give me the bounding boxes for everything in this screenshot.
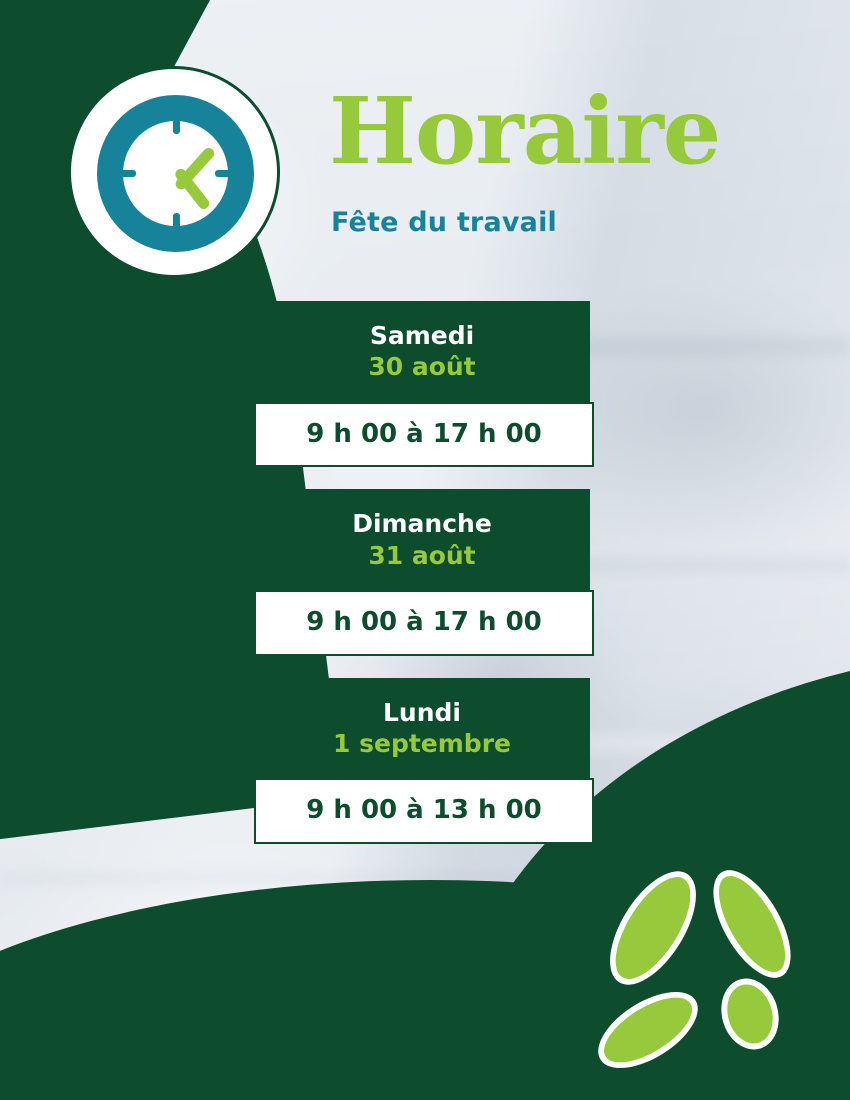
schedule-day-label: Samedi — [254, 320, 590, 351]
clock-tick-6 — [173, 213, 180, 230]
schedule-day-label: Lundi — [254, 697, 590, 728]
schedule-card-header: Samedi 30 août — [254, 301, 590, 402]
clock-icon — [68, 66, 280, 278]
clock-ring — [97, 95, 254, 252]
schedule-date-label: 31 août — [254, 540, 590, 573]
schedule-card-header: Lundi 1 septembre — [254, 678, 590, 779]
schedule-date-label: 30 août — [254, 351, 590, 384]
schedule-card: Samedi 30 août 9 h 00 à 17 h 00 — [254, 301, 594, 467]
schedule-card-header: Dimanche 31 août — [254, 489, 590, 590]
page-subtitle: Fête du travail — [331, 207, 557, 238]
schedule-day-label: Dimanche — [254, 508, 590, 539]
schedule-hours-band: 9 h 00 à 13 h 00 — [254, 778, 594, 844]
clock-tick-12 — [173, 117, 180, 134]
schedule-hours-band: 9 h 00 à 17 h 00 — [254, 590, 594, 656]
schedule-hours-label: 9 h 00 à 17 h 00 — [256, 608, 592, 637]
page-title: Horaire — [329, 85, 720, 177]
clock-face — [123, 121, 228, 226]
butterfly-petal-lower-right — [713, 972, 787, 1057]
schedule-card: Dimanche 31 août 9 h 00 à 17 h 00 — [254, 489, 594, 655]
clock-tick-9 — [119, 170, 136, 177]
butterfly-logo-icon — [616, 856, 816, 1056]
schedule-hours-label: 9 h 00 à 17 h 00 — [256, 420, 592, 449]
schedule-poster: Horaire Fête du travail Samedi 30 août 9… — [0, 0, 850, 1100]
schedule-date-label: 1 septembre — [254, 728, 590, 761]
butterfly-petal-upper-right — [698, 858, 806, 990]
schedule-hours-band: 9 h 00 à 17 h 00 — [254, 402, 594, 468]
clock-tick-3 — [215, 170, 232, 177]
schedule-card: Lundi 1 septembre 9 h 00 à 13 h 00 — [254, 678, 594, 844]
schedule-list: Samedi 30 août 9 h 00 à 17 h 00 Dimanche… — [254, 301, 594, 866]
schedule-hours-label: 9 h 00 à 13 h 00 — [256, 796, 592, 825]
